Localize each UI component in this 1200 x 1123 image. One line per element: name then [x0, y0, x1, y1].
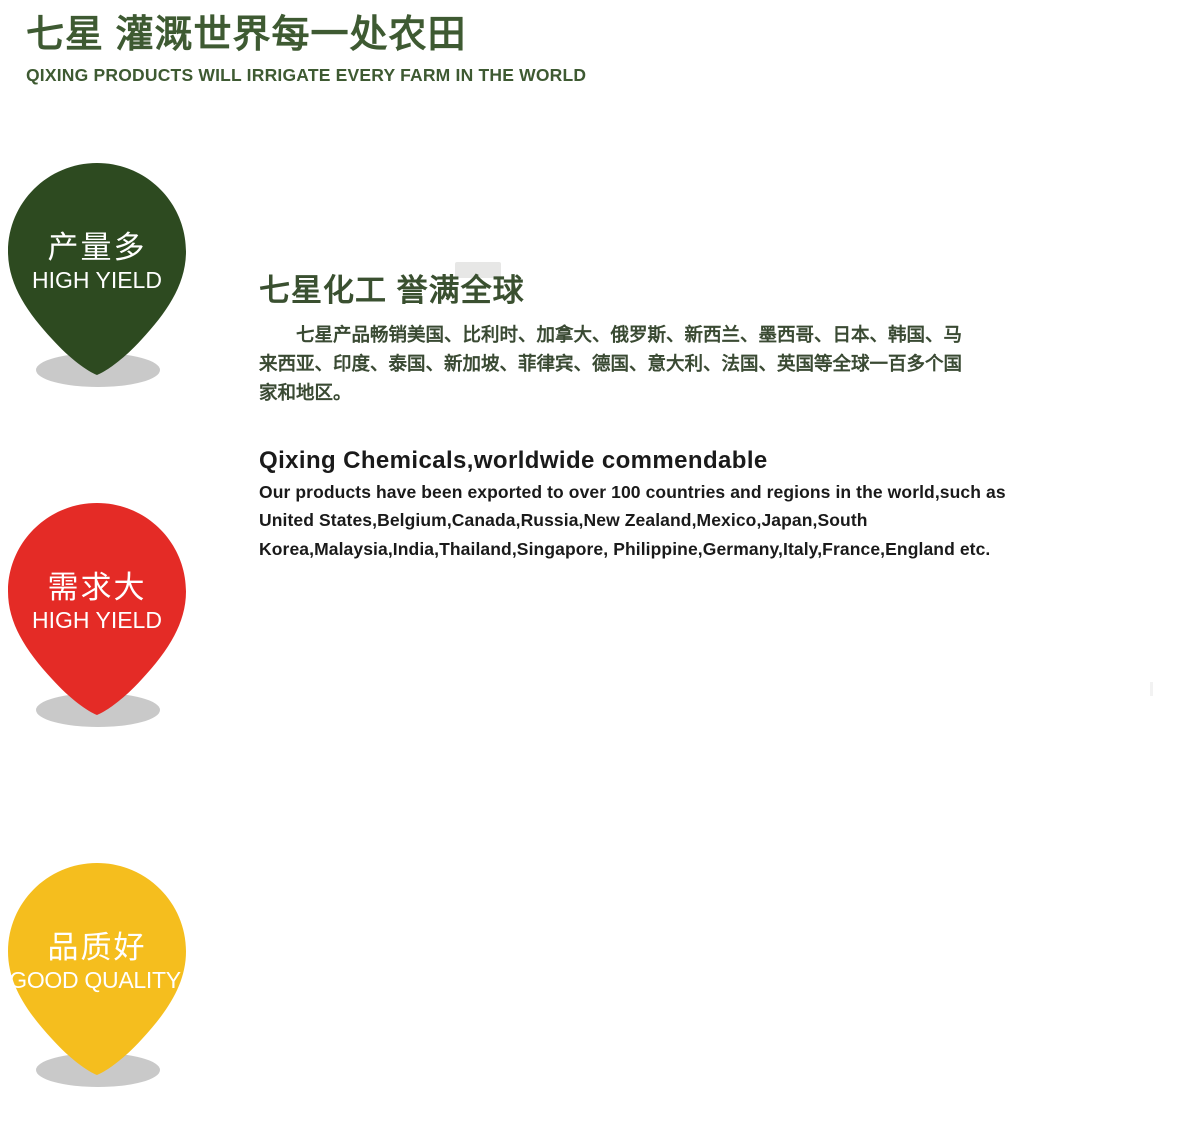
chinese-heading: 七星化工 誉满全球	[259, 272, 1019, 309]
page-title: 七星 灌溉世界每一处农田	[26, 14, 1026, 58]
english-heading: Qixing Chemicals,worldwide commendable	[259, 447, 768, 475]
chinese-body-text: 七星产品畅销美国、比利时、加拿大、俄罗斯、新西兰、墨西哥、日本、韩国、马来西亚、…	[259, 321, 973, 407]
map-pin-icon	[8, 503, 186, 715]
feature-pin-high-demand[interactable]: 需求大 HIGH YIELD	[8, 503, 186, 733]
feature-pin-good-quality[interactable]: 品质好 GOOD QUALITY	[8, 863, 186, 1093]
chinese-content-block: 七星化工 誉满全球 七星产品畅销美国、比利时、加拿大、俄罗斯、新西兰、墨西哥、日…	[259, 272, 1019, 407]
page-header: 七星 灌溉世界每一处农田 QIXING PRODUCTS WILL IRRIGA…	[26, 14, 1026, 86]
map-pin-icon	[8, 163, 186, 375]
scan-artifact	[1150, 682, 1153, 696]
feature-pin-high-yield[interactable]: 产量多 HIGH YIELD	[8, 163, 186, 393]
page-subtitle: QIXING PRODUCTS WILL IRRIGATE EVERY FARM…	[26, 65, 1026, 86]
english-body-text: Our products have been exported to over …	[259, 478, 1011, 563]
map-pin-icon	[8, 863, 186, 1075]
